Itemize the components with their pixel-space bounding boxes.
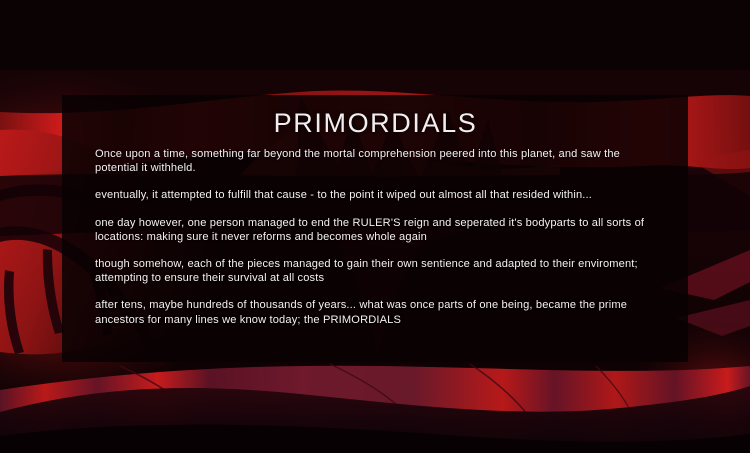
thin-wire-lines — [120, 364, 642, 436]
top-vignette — [0, 0, 750, 70]
lore-paragraph-4: though somehow, each of the pieces manag… — [95, 257, 656, 285]
lore-paragraph-3: one day however, one person managed to e… — [95, 216, 656, 244]
lore-paragraph-1: Once upon a time, something far beyond t… — [95, 147, 656, 175]
foreground-dark-sweep-2 — [0, 425, 750, 453]
page-title: PRIMORDIALS — [95, 107, 656, 139]
foreground-dark-sweep — [0, 386, 750, 453]
lower-crimson-band — [0, 366, 750, 452]
lore-paragraph-5: after tens, maybe hundreds of thousands … — [95, 298, 656, 326]
lore-screen: PRIMORDIALS Once upon a time, something … — [0, 0, 750, 453]
lore-paragraph-2: eventually, it attempted to fulfill that… — [95, 188, 656, 202]
lore-text-panel: PRIMORDIALS Once upon a time, something … — [62, 95, 688, 362]
